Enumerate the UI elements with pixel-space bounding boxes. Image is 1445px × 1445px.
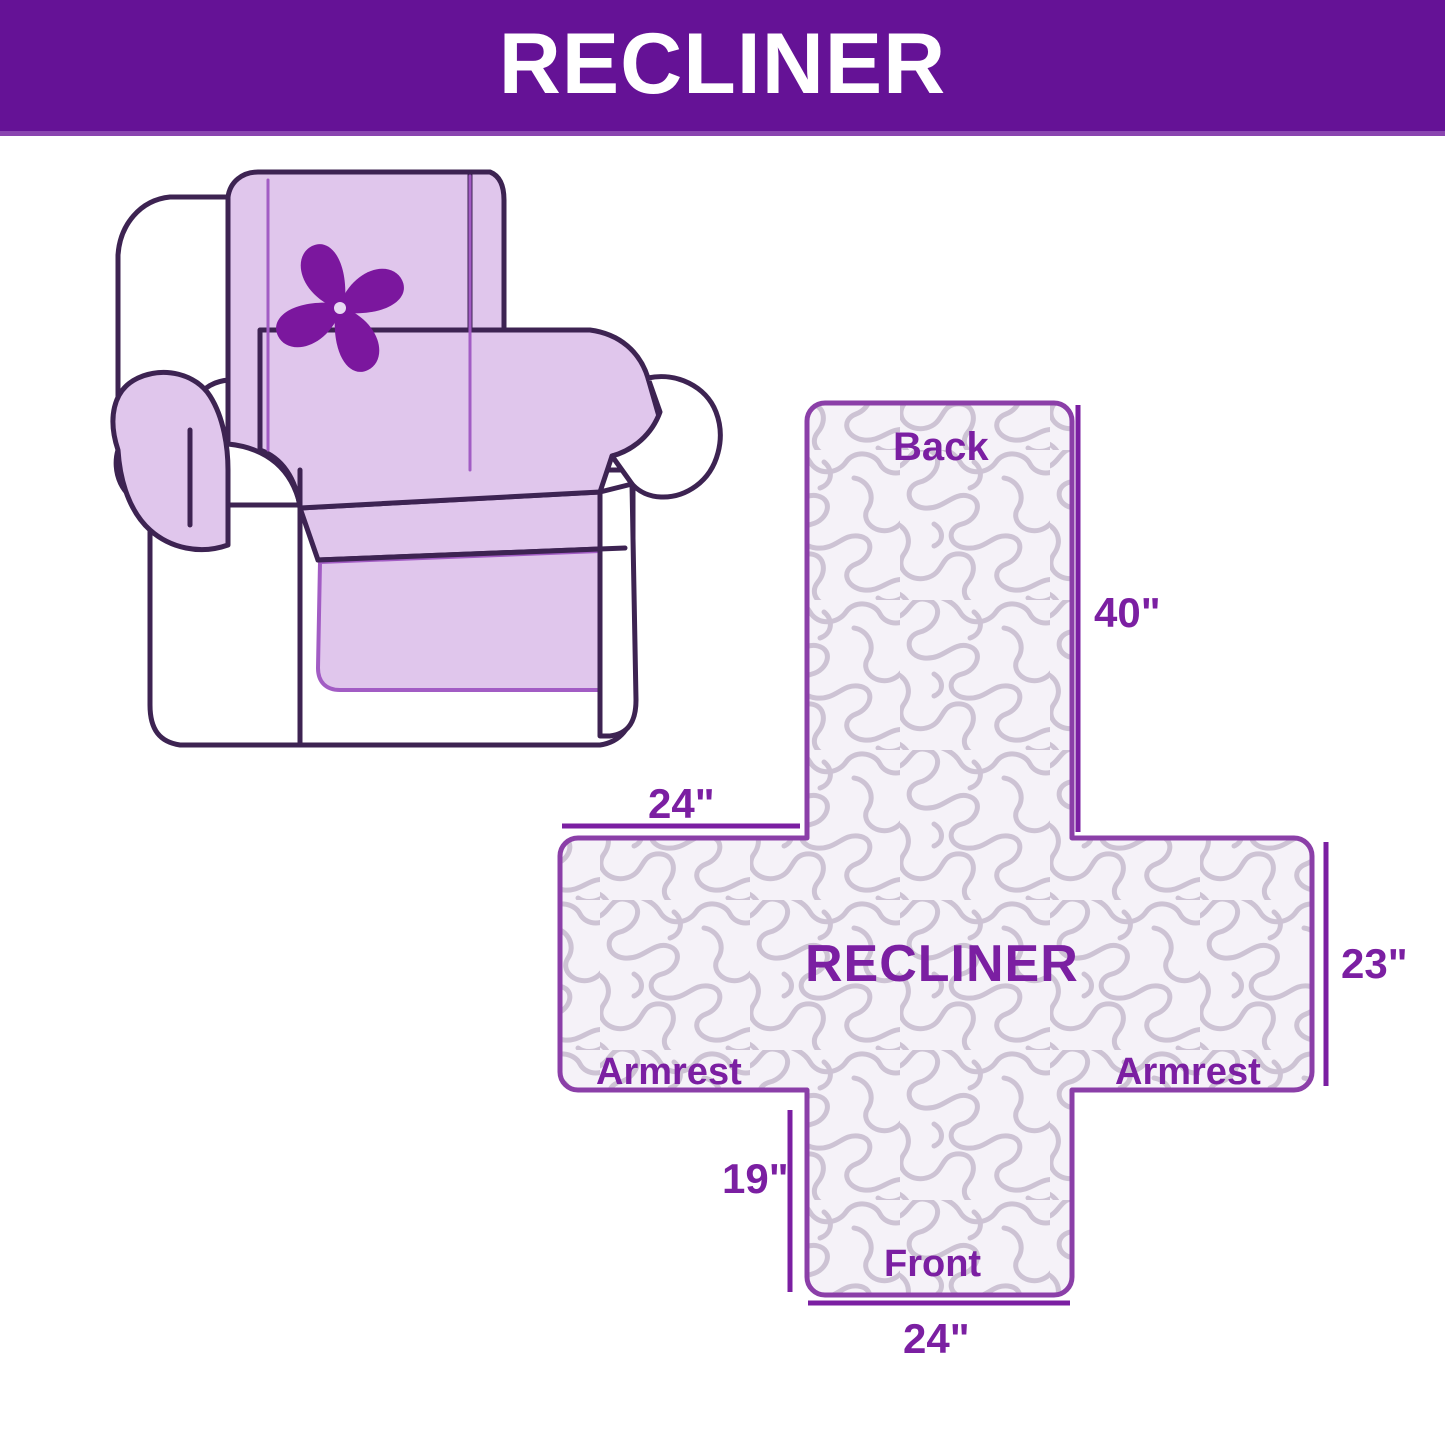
chair-base-skirt [150, 470, 633, 745]
cover-label-armrest-left: Armrest [596, 1053, 742, 1091]
chair-seat-skirt-cover [318, 550, 625, 690]
cover-label-armrest-right: Armrest [1115, 1053, 1261, 1091]
chair-seat-crease-line [318, 548, 625, 560]
pinwheel-fan-icon [276, 244, 404, 372]
diagram-canvas [0, 0, 1445, 1445]
chair-left-arm-roll [113, 372, 228, 549]
chair-left-outer-arm [116, 197, 228, 520]
cover-label-back: Back [893, 427, 989, 467]
chair-right-arm-roll [612, 377, 720, 497]
chair-backrest-panel [228, 172, 500, 520]
chair-back-right-column [470, 172, 504, 474]
dimension-label-front-width: 24" [903, 1318, 970, 1360]
header-underline-divider [0, 131, 1445, 136]
chair-right-arm-post [600, 484, 636, 736]
cover-label-front: Front [884, 1245, 981, 1283]
dimension-label-armrest-height: 23" [1341, 943, 1408, 985]
dimension-label-back-width: 24" [648, 783, 715, 825]
product-diagram-page: RECLINER [0, 0, 1445, 1445]
chair-seat-panel [300, 492, 625, 560]
cover-label-center: RECLINER [805, 938, 1079, 990]
page-title: RECLINER [499, 21, 947, 107]
dimension-label-back-height: 40" [1094, 592, 1161, 634]
chair-right-arm-top [260, 330, 660, 508]
dimension-lines [562, 405, 1326, 1303]
dimension-label-front-height: 19" [722, 1158, 789, 1200]
pinwheel-hub [334, 302, 346, 314]
chair-illustration [113, 172, 720, 745]
cover-cross-shape [560, 403, 1312, 1295]
header-banner: RECLINER [0, 0, 1445, 131]
